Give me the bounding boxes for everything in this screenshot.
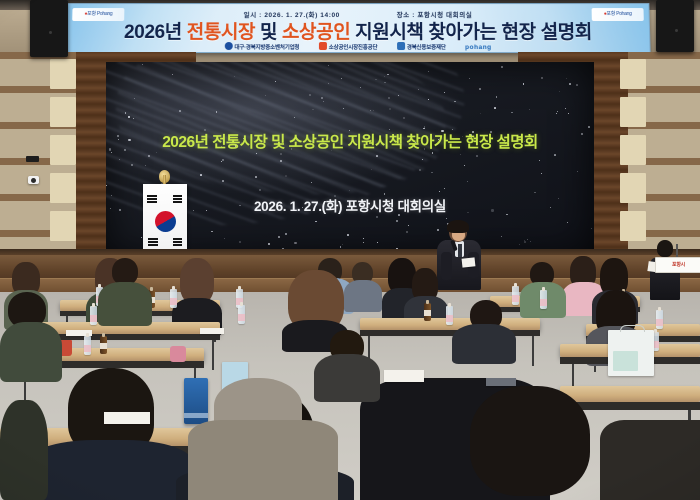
water-bottle <box>540 290 547 309</box>
beverage-bottle <box>424 303 431 321</box>
handout <box>200 328 224 334</box>
chair-cushion <box>170 346 186 362</box>
banner-title-accent1: 전통시장 <box>187 22 256 43</box>
sponsor-logo-1: 대구·경북지방중소벤처기업청 <box>224 42 299 51</box>
banner-title-p2: 및 <box>255 22 282 43</box>
screen-title: 2026년 전통시장 및 소상공인 지원시책 찾아가는 현장 설명회 <box>106 130 594 152</box>
sponsor-logo-2: 소상공인시장진흥공단 <box>319 42 378 51</box>
recycling-bin <box>184 378 208 424</box>
event-banner: ●포항 Pohang ●포항 Pohang 일시 : 2026. 1. 27.(… <box>65 3 650 53</box>
water-bottle <box>170 289 177 308</box>
ptz-camera-left <box>28 176 39 184</box>
water-bottle <box>238 305 245 324</box>
water-bottle <box>512 286 519 305</box>
sign-stand <box>676 244 678 258</box>
sponsor-logo-4: pohang <box>465 44 492 51</box>
podium-sign: 포항시 <box>655 257 700 273</box>
presenter-script <box>462 257 476 267</box>
camera-mount-left <box>26 156 39 162</box>
beverage-bottle <box>100 336 107 354</box>
water-bottle <box>656 310 663 329</box>
smartphone <box>486 378 516 386</box>
banner-sponsor-row: 대구·경북지방중소벤처기업청 소상공인시장진흥공단 경북신용보증재단 pohan… <box>66 42 649 51</box>
speaker-right <box>656 0 694 52</box>
handout <box>104 412 150 424</box>
desk-foreground-right <box>560 386 700 402</box>
banner-title-p3: 지원시책 찾아가는 현장 설명회 <box>350 22 592 43</box>
banner-title-p1: 2026년 <box>124 22 187 43</box>
staff-head <box>657 240 673 257</box>
sponsor-logo-3: 경북신용보증재단 <box>397 42 446 51</box>
water-bottle <box>90 306 97 325</box>
water-bottle <box>446 306 453 325</box>
banner-title: 2026년 전통시장 및 소상공인 지원시책 찾아가는 현장 설명회 <box>67 17 650 44</box>
shopping-bag <box>608 330 654 376</box>
banner-title-accent2: 소상공인 <box>282 22 350 43</box>
event-photo: ●포항 Pohang ●포항 Pohang 일시 : 2026. 1. 27.(… <box>0 0 700 500</box>
water-bottle <box>84 336 91 355</box>
speaker-left <box>30 0 68 57</box>
handout <box>384 370 424 382</box>
